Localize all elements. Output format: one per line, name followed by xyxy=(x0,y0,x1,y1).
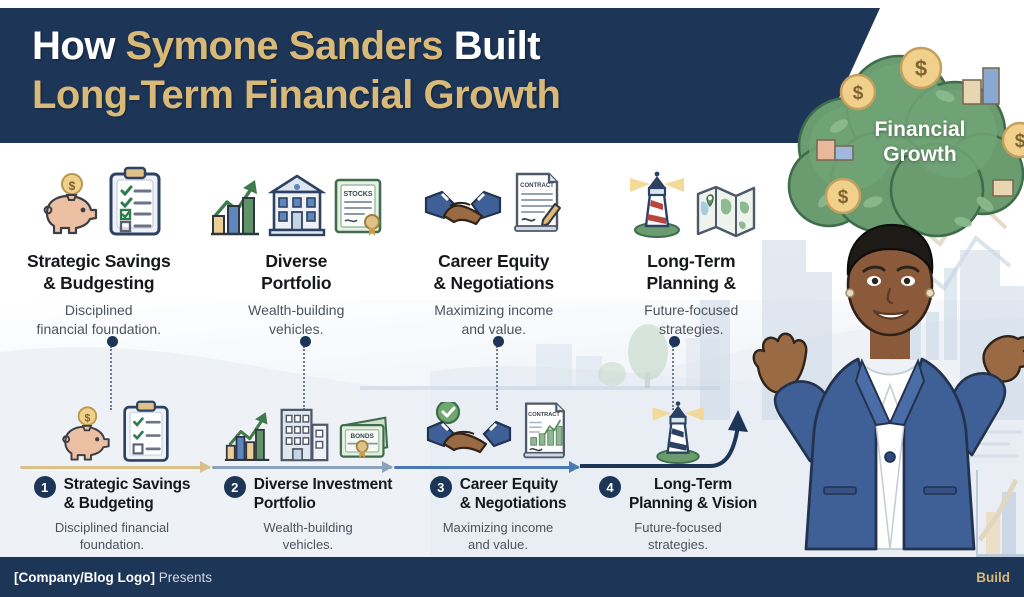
step-3-number: 3 xyxy=(430,476,452,498)
pillar-3-title-line-2: & Negotiations xyxy=(433,272,554,294)
timeline-row: $ xyxy=(0,398,790,558)
step-4-title-line-2: Planning & Vision xyxy=(629,494,757,513)
footer-right-text: Build xyxy=(976,570,1010,585)
svg-text:$: $ xyxy=(84,412,90,424)
verified-check-icon xyxy=(437,402,459,423)
step-3-title-line-1: Career Equity xyxy=(460,475,567,494)
pillar-4-title: Long-Term Planning & xyxy=(647,250,736,294)
timeline-arrow-3 xyxy=(394,466,579,469)
bank-building-icon xyxy=(268,172,326,238)
coin-icon: $ xyxy=(841,75,875,109)
financial-growth-label: Financial Growth xyxy=(855,118,985,168)
pillar-1-sub-line-2: financial foundation. xyxy=(36,320,161,339)
tree-label-line-1: Financial xyxy=(855,118,985,143)
pillar-1-title-line-2: & Budgesting xyxy=(27,272,170,294)
timeline-arrow-2 xyxy=(212,466,392,469)
svg-text:$: $ xyxy=(915,56,927,81)
step-2-title-line-2: Portfolio xyxy=(254,494,393,513)
step-1-number: 1 xyxy=(34,476,56,498)
step-4-sub-line-1: Future-focused xyxy=(634,519,721,536)
svg-text:$: $ xyxy=(838,187,849,208)
office-buildings-icon xyxy=(277,406,331,464)
title-word-built: Built xyxy=(454,24,540,68)
pillar-2-title: Diverse Portfolio xyxy=(261,250,331,294)
page-title: How Symone Sanders Built Long-Term Finan… xyxy=(32,22,792,120)
pillar-2-subtitle: Wealth-building vehicles. xyxy=(248,301,344,338)
pillar-2-title-line-2: Portfolio xyxy=(261,272,331,294)
pillar-1-sub-line-1: Disciplined xyxy=(36,301,161,320)
step-2-sub-line-1: Wealth-building xyxy=(263,519,352,536)
svg-text:STOCKS: STOCKS xyxy=(344,191,373,198)
pillar-3-sub-line-2: and value. xyxy=(434,320,553,339)
bonds-certificate-icon: BONDS xyxy=(337,414,391,464)
step-1-head: 1 Strategic Savings & Budgeting xyxy=(14,475,210,514)
step-2-icons: BONDS xyxy=(225,398,391,464)
pillar-2-sub-line-2: vehicles. xyxy=(248,320,344,339)
footer-logo-text: [Company/Blog Logo] Presents xyxy=(14,570,212,585)
pillar-4-sub-line-1: Future-focused xyxy=(644,301,738,320)
step-2-title: Diverse Investment Portfolio xyxy=(254,475,393,514)
step-3-subtitle: Maximizing income and value. xyxy=(443,519,554,553)
timeline-step-2: BONDS 2 Diverse Investment Portfolio We xyxy=(210,398,406,553)
infographic-canvas: How Symone Sanders Built Long-Term Finan… xyxy=(0,0,1024,597)
step-2-title-line-1: Diverse Investment xyxy=(254,475,393,494)
pillar-3-title: Career Equity & Negotiations xyxy=(433,250,554,294)
checklist-clipboard-icon xyxy=(120,400,172,464)
step-3-title: Career Equity & Negotiations xyxy=(460,475,567,514)
contract-chart-document-icon: CONTRACT xyxy=(518,398,570,464)
handshake-icon xyxy=(424,182,502,238)
step-3-sub-line-2: and value. xyxy=(443,536,554,553)
step-1-icons: $ xyxy=(52,398,172,464)
footer-band: [Company/Blog Logo] Presents Build xyxy=(0,557,1024,597)
step-1-subtitle: Disciplined financial foundation. xyxy=(55,519,169,553)
timeline-arrow-1 xyxy=(20,466,210,469)
svg-text:$: $ xyxy=(69,179,76,193)
pillar-1-subtitle: Disciplined financial foundation. xyxy=(36,301,161,338)
pillar-card-portfolio: STOCKS Diverse Portfolio Wealth-building xyxy=(198,160,396,340)
title-word-how: How xyxy=(32,24,126,68)
step-2-head: 2 Diverse Investment Portfolio xyxy=(210,475,406,514)
pillar-4-title-line-1: Long-Term xyxy=(647,250,736,272)
step-1-title-line-1: Strategic Savings xyxy=(64,475,191,494)
pillar-4-subtitle: Future-focused strategies. xyxy=(644,301,738,338)
step-1-sub-line-2: foundation. xyxy=(55,536,169,553)
stocks-certificate-icon: STOCKS xyxy=(333,176,383,238)
growth-bar-chart-icon xyxy=(209,176,261,238)
pillar-3-sub-line-1: Maximizing income xyxy=(434,301,553,320)
pillar-4-icons xyxy=(626,160,757,238)
pillar-1-title-line-1: Strategic Savings xyxy=(27,250,170,272)
pillar-2-icons: STOCKS xyxy=(209,160,383,238)
step-1-title: Strategic Savings & Budgeting xyxy=(64,475,191,514)
pillar-4-title-line-2: Planning & xyxy=(647,272,736,294)
svg-text:CONTRACT: CONTRACT xyxy=(528,412,560,418)
svg-text:$: $ xyxy=(1015,131,1024,152)
step-3-sub-line-1: Maximizing income xyxy=(443,519,554,536)
page-title-line-2: Long-Term Financial Growth xyxy=(32,71,792,120)
svg-text:CONTRACT: CONTRACT xyxy=(520,183,554,189)
step-3-title-line-2: & Negotiations xyxy=(460,494,567,513)
step-1-sub-line-1: Disciplined financial xyxy=(55,519,169,536)
step-3-icons: CONTRACT xyxy=(426,398,570,464)
piggy-bank-icon: $ xyxy=(34,168,100,238)
step-2-number: 2 xyxy=(224,476,246,498)
pillar-4-sub-line-2: strategies. xyxy=(644,320,738,339)
pillar-card-career-equity: CONTRACT Career Equity & Negotiations xyxy=(395,160,593,340)
step-2-subtitle: Wealth-building vehicles. xyxy=(263,519,352,553)
pillar-2-sub-line-1: Wealth-building xyxy=(248,301,344,320)
step-4-sub-line-2: strategies. xyxy=(634,536,721,553)
footer-logo-placeholder: [Company/Blog Logo] xyxy=(14,570,155,585)
svg-text:BONDS: BONDS xyxy=(350,433,374,440)
handshake-icon xyxy=(426,402,512,464)
step-2-sub-line-2: vehicles. xyxy=(263,536,352,553)
businesswoman-illustration xyxy=(750,209,1024,559)
timeline-step-1: $ xyxy=(14,398,210,553)
pillar-3-subtitle: Maximizing income and value. xyxy=(434,301,553,338)
svg-text:$: $ xyxy=(853,83,864,104)
step-1-title-line-2: & Budgeting xyxy=(64,494,191,513)
businesswoman-icon xyxy=(750,209,1024,559)
contract-document-icon: CONTRACT xyxy=(509,168,563,238)
tree-label-line-2: Growth xyxy=(855,143,985,168)
growth-bar-chart-icon xyxy=(225,408,271,464)
footer-presents-label: Presents xyxy=(159,570,212,585)
step-3-head: 3 Career Equity & Negotiations xyxy=(400,475,596,514)
step-4-subtitle: Future-focused strategies. xyxy=(634,519,721,553)
pillars-row: $ xyxy=(0,160,790,340)
timeline-step-3: CONTRACT xyxy=(400,398,596,553)
lighthouse-icon xyxy=(626,168,688,238)
pillar-3-title-line-1: Career Equity xyxy=(433,250,554,272)
pillar-1-icons: $ xyxy=(34,160,163,238)
piggy-bank-icon: $ xyxy=(52,402,114,464)
folded-map-icon xyxy=(695,182,757,238)
pillar-1-title: Strategic Savings & Budgesting xyxy=(27,250,170,294)
page-title-line-1: How Symone Sanders Built xyxy=(32,22,792,71)
title-name-symone-sanders: Symone Sanders xyxy=(126,24,454,68)
checklist-clipboard-icon xyxy=(107,166,163,238)
pillar-3-icons: CONTRACT xyxy=(424,160,563,238)
pillar-2-title-line-1: Diverse xyxy=(261,250,331,272)
pillar-card-savings: $ xyxy=(0,160,198,340)
